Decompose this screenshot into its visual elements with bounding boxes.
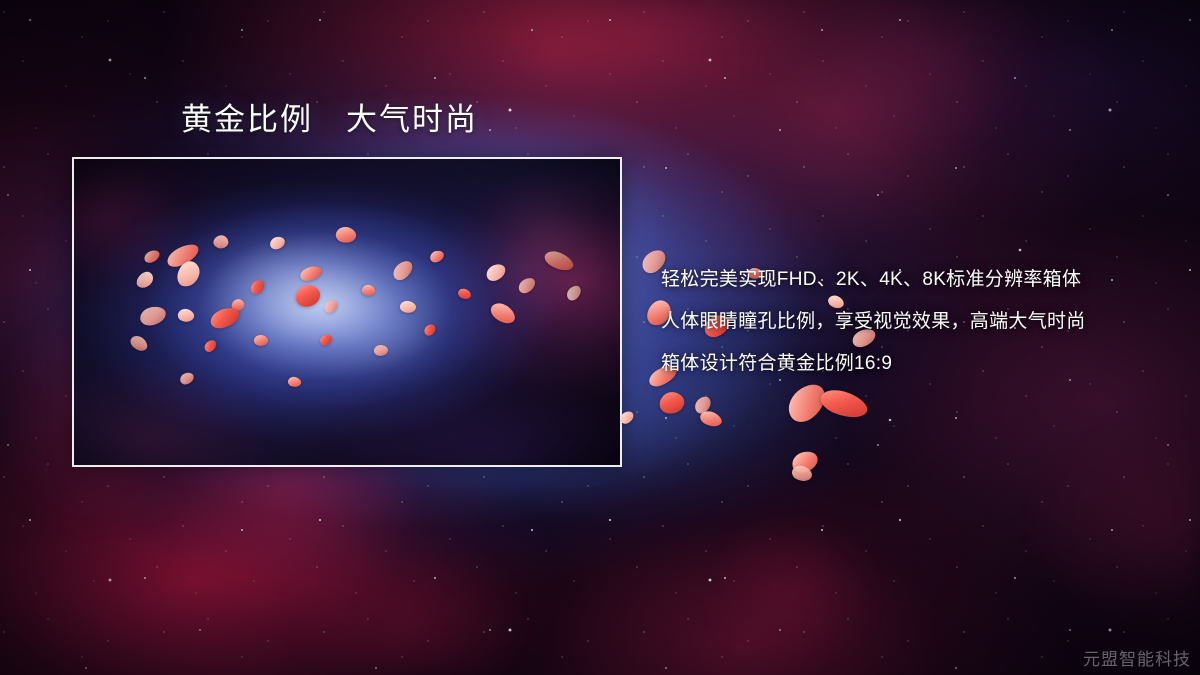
framed-image-content bbox=[74, 159, 620, 465]
watermark: 元盟智能科技 bbox=[1083, 649, 1191, 671]
presentation-slide: 黄金比例 大气时尚 bbox=[0, 0, 1200, 675]
body-line-1: 轻松完美实现FHD、2K、4K、8K标准分辨率箱体 bbox=[661, 259, 1086, 301]
slide-title: 黄金比例 大气时尚 bbox=[181, 101, 478, 139]
petal bbox=[658, 390, 686, 417]
petal bbox=[817, 384, 870, 424]
body-line-2: 人体眼睛瞳孔比例，享受视觉效果，高端大气时尚 bbox=[661, 301, 1086, 343]
body-text-block: 轻松完美实现FHD、2K、4K、8K标准分辨率箱体 人体眼睛瞳孔比例，享受视觉效… bbox=[661, 259, 1086, 385]
body-line-3: 箱体设计符合黄金比例16:9 bbox=[661, 343, 1086, 385]
framed-image-vignette bbox=[74, 159, 620, 465]
framed-image bbox=[72, 157, 622, 467]
